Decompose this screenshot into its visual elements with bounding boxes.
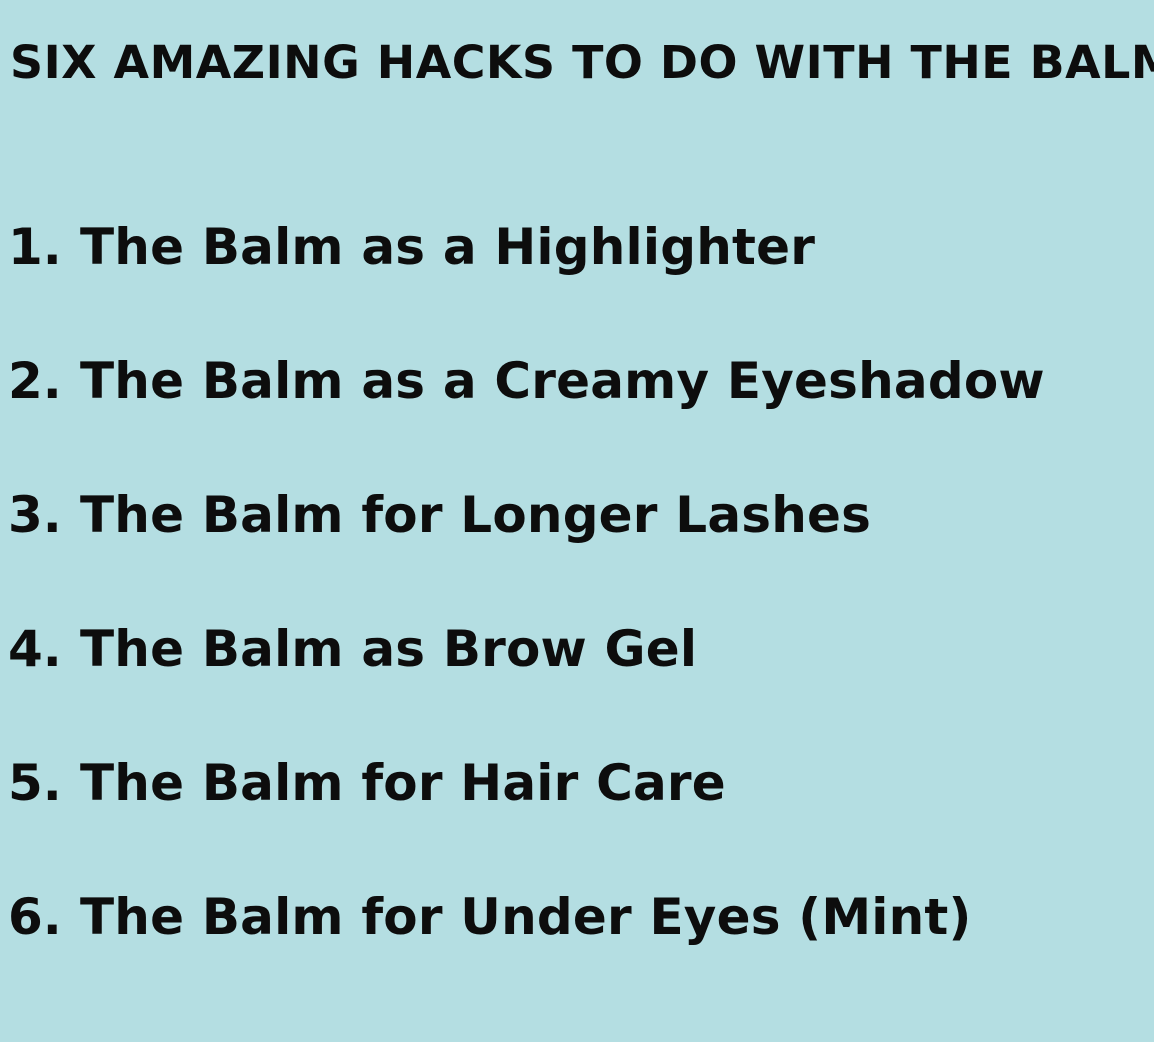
hacks-list: 1. The Balm as a Highlighter 2. The Balm… xyxy=(0,222,1154,1026)
list-item-label: The Balm for Hair Care xyxy=(80,758,726,808)
list-item: 5. The Balm for Hair Care xyxy=(0,758,1154,892)
list-item-number: 6. xyxy=(8,892,80,942)
list-item-number: 1. xyxy=(8,222,80,272)
list-item: 4. The Balm as Brow Gel xyxy=(0,624,1154,758)
list-item-number: 3. xyxy=(8,490,80,540)
list-item-label: The Balm as Brow Gel xyxy=(80,624,697,674)
list-item-label: The Balm for Under Eyes (Mint) xyxy=(80,892,972,942)
list-item-label: The Balm as a Creamy Eyeshadow xyxy=(80,356,1045,406)
list-item: 2. The Balm as a Creamy Eyeshadow xyxy=(0,356,1154,490)
list-item-label: The Balm as a Highlighter xyxy=(80,222,815,272)
list-item-number: 4. xyxy=(8,624,80,674)
list-item-label: The Balm for Longer Lashes xyxy=(80,490,871,540)
list-item-number: 5. xyxy=(8,758,80,808)
page-title: SIX AMAZING HACKS TO DO WITH THE BALM: xyxy=(10,38,1154,88)
list-item: 1. The Balm as a Highlighter xyxy=(0,222,1154,356)
list-item: 3. The Balm for Longer Lashes xyxy=(0,490,1154,624)
poster-canvas: SIX AMAZING HACKS TO DO WITH THE BALM: 1… xyxy=(0,0,1154,1042)
list-item: 6. The Balm for Under Eyes (Mint) xyxy=(0,892,1154,1026)
list-item-number: 2. xyxy=(8,356,80,406)
